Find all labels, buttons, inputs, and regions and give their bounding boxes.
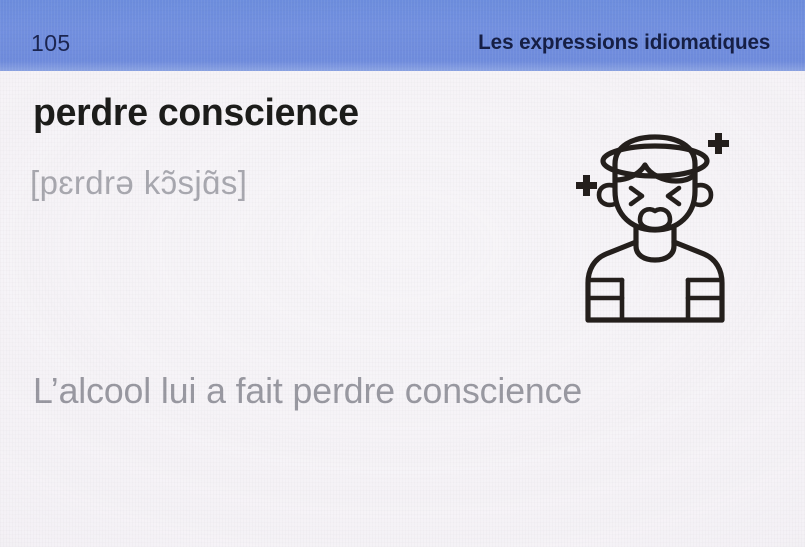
header-title: Les expressions idiomatiques [478, 32, 770, 54]
sparkle-top-right [708, 133, 729, 154]
dizzy-person-illustration [560, 128, 750, 328]
card-header: 105 Les expressions idiomatiques [0, 0, 805, 71]
mouth [640, 209, 670, 229]
left-eye [631, 188, 642, 204]
flashcard: 105 Les expressions idiomatiques perdre … [0, 0, 805, 547]
right-eye [668, 188, 679, 204]
dizzy-person-icon [560, 128, 750, 328]
entry-phonetic-transcription: [pɛrdrə kɔ̃sjɑ̃s] [30, 166, 247, 199]
page-number: 105 [31, 32, 71, 55]
neck [636, 228, 674, 260]
entry-example-sentence: L’alcool lui a fait perdre conscience [33, 373, 582, 409]
sparkle-left [576, 175, 597, 196]
entry-term: perdre conscience [33, 94, 359, 132]
